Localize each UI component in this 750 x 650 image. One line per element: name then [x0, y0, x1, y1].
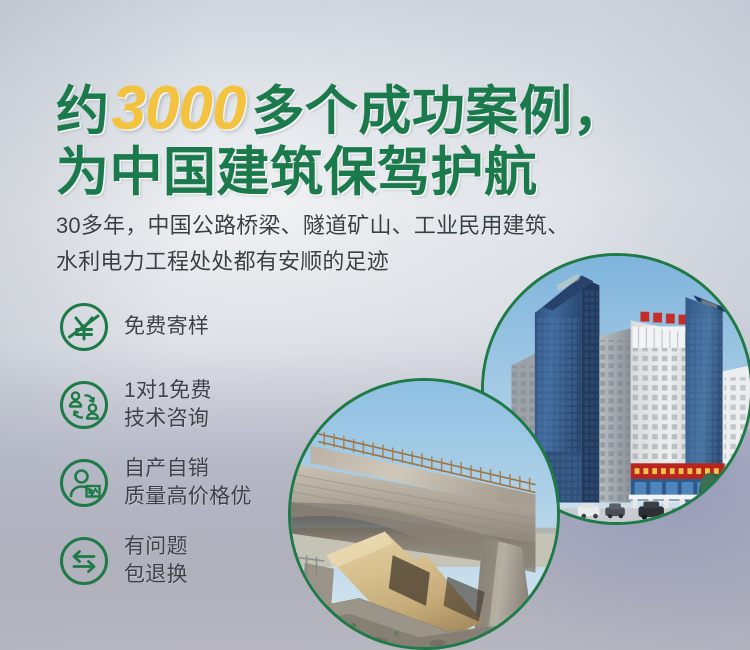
two-people-exchange-icon [58, 379, 110, 431]
feature-label-consultation: 1对1免费 技术咨询 [124, 377, 212, 432]
feature-label-line-2: 质量高价格优 [124, 483, 252, 511]
feature-label-line-2: 技术咨询 [124, 405, 212, 433]
yen-no-fee-icon [58, 301, 110, 353]
feature-item-return-exchange[interactable]: 有问题 包退换 [58, 530, 308, 592]
headline-number: 3000 [110, 74, 252, 143]
headline: 约3000多个成功案例， 为中国建筑保驾护航 [56, 78, 696, 199]
feature-label-line-1: 自产自销 [124, 455, 252, 483]
bridge-photo-image [291, 381, 557, 647]
headline-suffix: 多个成功案例， [251, 82, 626, 141]
feature-label-line-1: 1对1免费 [124, 377, 212, 405]
feature-label-line-2: 包退换 [124, 561, 188, 589]
person-chart-icon [58, 457, 110, 509]
feature-item-free-sample[interactable]: 免费寄样 [58, 296, 308, 358]
feature-label-return-exchange: 有问题 包退换 [124, 533, 188, 588]
feature-label-line-1: 免费寄样 [124, 313, 209, 341]
feature-label-line-1: 有问题 [124, 533, 188, 561]
subtitle-line-1: 30多年，中国公路桥梁、隧道矿山、工业民用建筑、 [56, 208, 716, 244]
feature-label-self-production: 自产自销 质量高价格优 [124, 455, 252, 510]
promo-banner: 约3000多个成功案例， 为中国建筑保驾护航 30多年，中国公路桥梁、隧道矿山、… [0, 0, 750, 650]
swap-arrows-icon [58, 535, 110, 587]
feature-item-consultation[interactable]: 1对1免费 技术咨询 [58, 374, 308, 436]
headline-prefix: 约 [56, 82, 110, 141]
headline-line-2: 为中国建筑保驾护航 [56, 146, 696, 199]
headline-line-1: 约3000多个成功案例， [56, 78, 696, 140]
feature-list: 免费寄样 1对1免费 技术咨询 [58, 296, 308, 608]
bridge-photo [288, 378, 560, 650]
feature-label-free-sample: 免费寄样 [124, 313, 209, 341]
feature-item-self-production[interactable]: 自产自销 质量高价格优 [58, 452, 308, 514]
